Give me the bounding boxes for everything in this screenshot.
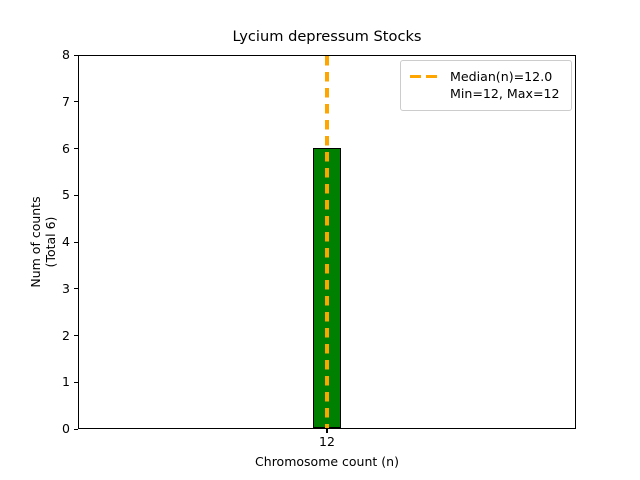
legend-label-median: Median(n)=12.0: [450, 68, 560, 85]
y-tick-label: 7: [62, 95, 70, 108]
y-tick-label: 0: [62, 422, 70, 435]
bars-layer: [79, 56, 575, 428]
legend-dash-2: [426, 75, 437, 78]
legend: Median(n)=12.0 Min=12, Max=12: [400, 60, 572, 111]
y-axis-label-line2: (Total 6): [43, 55, 58, 429]
x-tick-label: 12: [297, 435, 357, 449]
chart-title: Lycium depressum Stocks: [78, 28, 576, 45]
legend-median-swatch: [410, 70, 441, 84]
figure-canvas: Lycium depressum Stocks Num of counts (T…: [0, 0, 640, 480]
x-tick-mark: [326, 429, 327, 433]
median-line: [325, 56, 328, 428]
legend-text: Median(n)=12.0 Min=12, Max=12: [450, 68, 560, 102]
legend-dash-1: [410, 75, 421, 78]
y-tick-label: 3: [62, 282, 70, 295]
x-axis-label: Chromosome count (n): [78, 454, 576, 469]
y-axis-label: Num of counts (Total 6): [28, 55, 64, 429]
plot-area: [78, 55, 576, 429]
y-tick-label: 5: [62, 188, 70, 201]
y-tick-label: 1: [62, 375, 70, 388]
y-axis-label-line1: Num of counts: [28, 196, 43, 287]
legend-label-minmax: Min=12, Max=12: [450, 85, 560, 102]
y-tick-label: 6: [62, 142, 70, 155]
y-tick-label: 8: [62, 48, 70, 61]
y-tick-label: 4: [62, 235, 70, 248]
y-tick-label: 2: [62, 329, 70, 342]
